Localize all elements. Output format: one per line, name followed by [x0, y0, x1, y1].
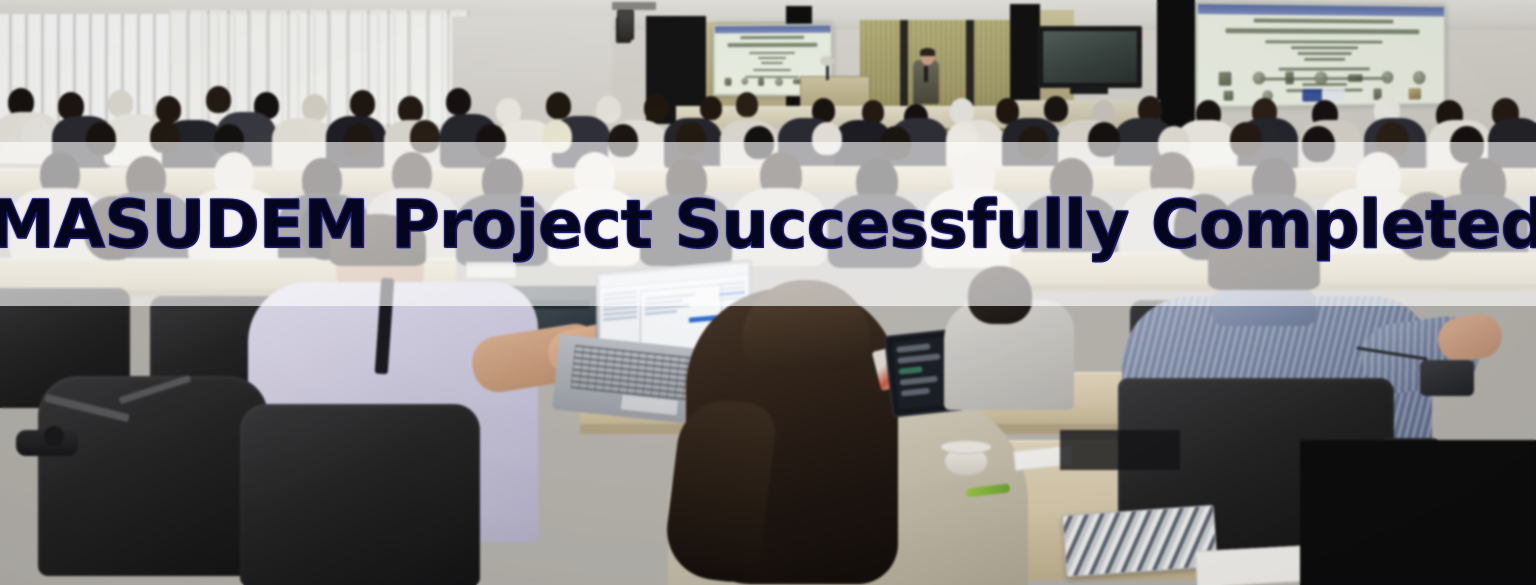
presenter-tie — [924, 66, 928, 82]
audience-head — [546, 92, 571, 119]
chair-caster — [44, 426, 64, 446]
audience-head — [350, 90, 375, 117]
audience-head — [398, 96, 423, 123]
slide-logo-row — [1208, 71, 1434, 86]
tv-screen — [1043, 31, 1137, 83]
tv-mount — [1070, 88, 1108, 94]
background-shadow — [1060, 430, 1180, 470]
microphone-icon — [820, 56, 834, 66]
audience-head — [644, 94, 669, 121]
office-chair — [240, 404, 480, 585]
input-device[interactable] — [1420, 360, 1474, 396]
wall-mounted-tv — [1038, 26, 1142, 88]
page-title: MASUDEM Project Successfully Completed — [0, 142, 1536, 306]
audience-head — [736, 92, 758, 117]
audience-head — [446, 88, 471, 115]
ceiling-speaker-icon — [617, 10, 634, 40]
audience-head — [1044, 96, 1068, 122]
ceiling-vent — [612, 2, 656, 10]
audience-head — [302, 94, 327, 121]
presenter-hair — [920, 48, 935, 56]
audience-head — [156, 96, 181, 123]
cup-lid — [940, 440, 992, 454]
background-shadow — [1300, 440, 1536, 585]
audience-head — [108, 90, 133, 117]
audience-head — [206, 86, 231, 113]
podium — [800, 76, 870, 110]
patterned-notebook — [1062, 505, 1218, 577]
wall-panel-dark — [1157, 0, 1195, 140]
audience-head — [700, 96, 722, 120]
paper-sheet — [1195, 545, 1317, 585]
banner-image: MASUDEM Project Successfully Completed — [0, 0, 1536, 585]
main-projection-screen — [1196, 2, 1446, 108]
